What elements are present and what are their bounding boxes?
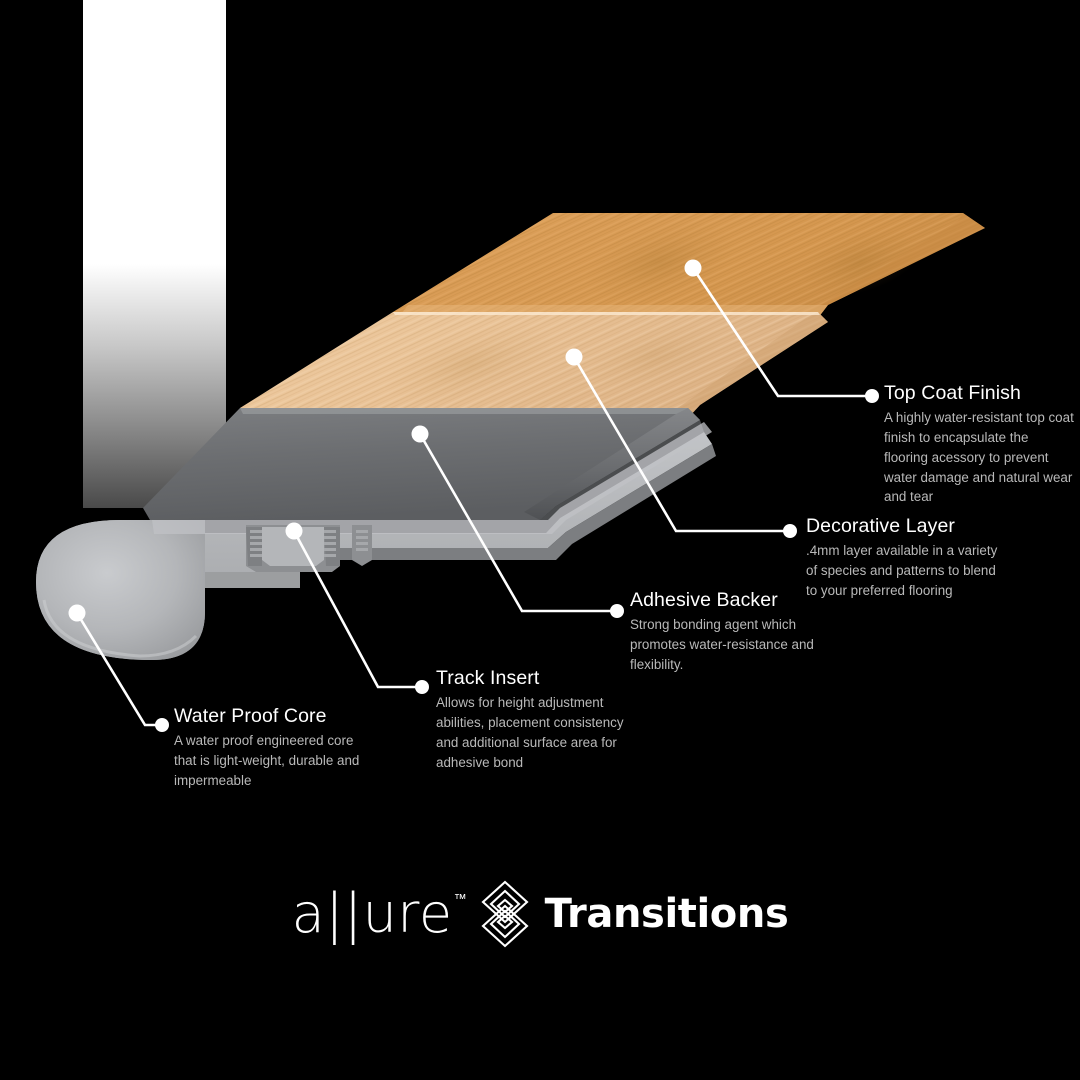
diagram-canvas: Top Coat Finish A highly water-resistant… xyxy=(0,0,1080,1080)
allure-wordmark: a||ure ™ xyxy=(292,887,465,941)
label-dot-track xyxy=(415,680,429,694)
callout-track-insert: Track Insert Allows for height adjustmen… xyxy=(436,668,636,772)
callout-title: Adhesive Backer xyxy=(630,590,826,611)
callout-body: A water proof engineered core that is li… xyxy=(174,731,374,790)
wall-backdrop xyxy=(83,0,226,508)
anchor-dot-core xyxy=(69,605,86,622)
label-dot-top-coat xyxy=(865,389,879,403)
anchor-dot-decorative xyxy=(566,349,583,366)
callout-adhesive-backer: Adhesive Backer Strong bonding agent whi… xyxy=(630,590,826,675)
callout-body: Allows for height adjustment abilities, … xyxy=(436,693,636,772)
brand-lockup: a||ure ™ Transitions xyxy=(0,876,1080,952)
callout-body: .4mm layer available in a variety of spe… xyxy=(806,541,1002,600)
product-line-name: Transitions xyxy=(545,894,789,934)
callout-water-proof-core: Water Proof Core A water proof engineere… xyxy=(174,706,374,791)
label-dot-adhesive xyxy=(610,604,624,618)
allure-wordmark-text: a||ure xyxy=(292,882,453,945)
callout-title: Decorative Layer xyxy=(806,516,1002,537)
nested-diamond-emblem-icon xyxy=(479,880,531,948)
anchor-dot-top-coat xyxy=(685,260,702,277)
anchor-dot-adhesive xyxy=(412,426,429,443)
callout-body: Strong bonding agent which promotes wate… xyxy=(630,615,826,674)
label-dot-decorative xyxy=(783,524,797,538)
trademark-symbol: ™ xyxy=(454,893,467,906)
callout-decorative-layer: Decorative Layer .4mm layer available in… xyxy=(806,516,1002,601)
anchor-dot-track xyxy=(286,523,303,540)
label-dot-core xyxy=(155,718,169,732)
callout-title: Water Proof Core xyxy=(174,706,374,727)
callout-top-coat-finish: Top Coat Finish A highly water-resistant… xyxy=(884,383,1074,507)
callout-body: A highly water-resistant top coat finish… xyxy=(884,408,1074,507)
callout-title: Track Insert xyxy=(436,668,636,689)
callout-title: Top Coat Finish xyxy=(884,383,1074,404)
